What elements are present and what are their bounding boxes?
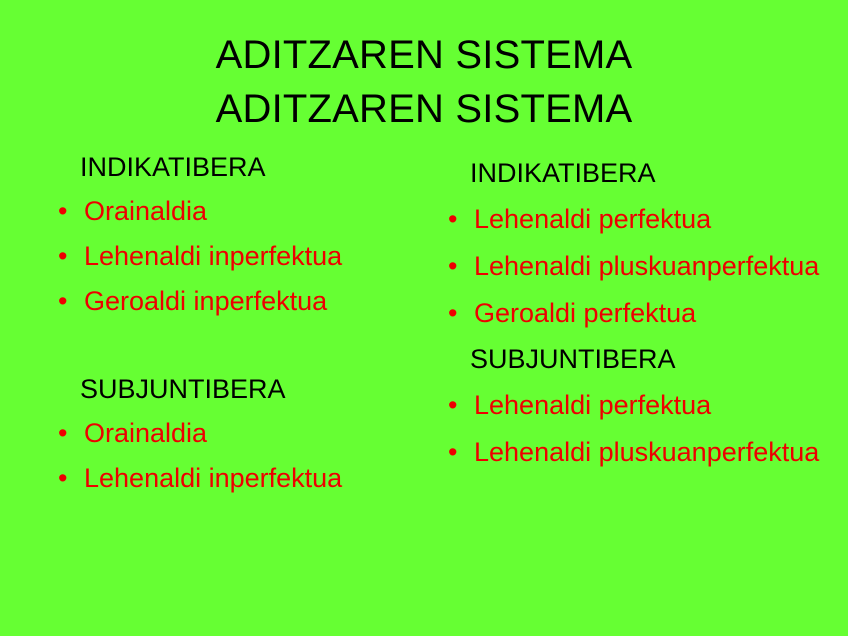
left-indikatibera-heading: INDIKATIBERA (44, 150, 434, 185)
list-item-label: Lehenaldi inperfektua (84, 241, 342, 271)
left-indikatibera-list: • Orainaldia • Lehenaldi inperfektua • G… (44, 192, 434, 320)
right-column-spacer (434, 332, 834, 342)
left-section-indikatibera: INDIKATIBERA • Orainaldia • Lehenaldi in… (44, 150, 434, 320)
bullet-icon: • (448, 386, 457, 424)
list-item-label: Lehenaldi inperfektua (84, 463, 342, 493)
left-section-subjuntibera: SUBJUNTIBERA • Orainaldia • Lehenaldi in… (44, 372, 434, 497)
list-item: • Lehenaldi pluskuanperfektua (434, 433, 834, 471)
list-item: • Orainaldia (44, 414, 434, 452)
left-column-spacer (44, 320, 434, 372)
right-section-subjuntibera: SUBJUNTIBERA • Lehenaldi perfektua • Leh… (434, 342, 834, 471)
list-item-label: Orainaldia (84, 196, 207, 226)
slide-canvas: ADITZAREN SISTEMA ADITZAREN SISTEMA INDI… (0, 0, 848, 636)
bullet-icon: • (448, 294, 457, 332)
bullet-icon: • (58, 459, 67, 497)
left-subjuntibera-heading: SUBJUNTIBERA (44, 372, 434, 407)
list-item: • Lehenaldi inperfektua (44, 459, 434, 497)
right-indikatibera-heading: INDIKATIBERA (434, 156, 834, 191)
slide-title: ADITZAREN SISTEMA ADITZAREN SISTEMA (0, 28, 848, 136)
bullet-icon: • (448, 247, 457, 285)
bullet-icon: • (448, 433, 457, 471)
left-column: INDIKATIBERA • Orainaldia • Lehenaldi in… (44, 150, 434, 497)
list-item-label: Lehenaldi pluskuanperfektua (474, 437, 819, 467)
bullet-icon: • (448, 200, 457, 238)
list-item-label: Lehenaldi perfektua (474, 390, 711, 420)
bullet-icon: • (58, 237, 67, 275)
list-item: • Lehenaldi perfektua (434, 200, 834, 238)
bullet-icon: • (58, 282, 67, 320)
left-subjuntibera-list: • Orainaldia • Lehenaldi inperfektua (44, 414, 434, 497)
title-line-1: ADITZAREN SISTEMA (0, 28, 848, 82)
right-indikatibera-list: • Lehenaldi perfektua • Lehenaldi plusku… (434, 200, 834, 332)
list-item-label: Geroaldi inperfektua (84, 286, 327, 316)
right-subjuntibera-list: • Lehenaldi perfektua • Lehenaldi plusku… (434, 386, 834, 471)
list-item: • Lehenaldi pluskuanperfektua (434, 247, 834, 285)
right-subjuntibera-heading: SUBJUNTIBERA (434, 342, 834, 377)
list-item-label: Lehenaldi perfektua (474, 204, 711, 234)
list-item: • Geroaldi perfektua (434, 294, 834, 332)
list-item: • Orainaldia (44, 192, 434, 230)
right-column: INDIKATIBERA • Lehenaldi perfektua • Leh… (434, 156, 834, 471)
title-line-2: ADITZAREN SISTEMA (0, 82, 848, 136)
list-item-label: Orainaldia (84, 418, 207, 448)
bullet-icon: • (58, 414, 67, 452)
list-item: • Lehenaldi inperfektua (44, 237, 434, 275)
list-item-label: Geroaldi perfektua (474, 298, 696, 328)
bullet-icon: • (58, 192, 67, 230)
right-section-indikatibera: INDIKATIBERA • Lehenaldi perfektua • Leh… (434, 156, 834, 332)
list-item-label: Lehenaldi pluskuanperfektua (474, 251, 819, 281)
list-item: • Lehenaldi perfektua (434, 386, 834, 424)
list-item: • Geroaldi inperfektua (44, 282, 434, 320)
